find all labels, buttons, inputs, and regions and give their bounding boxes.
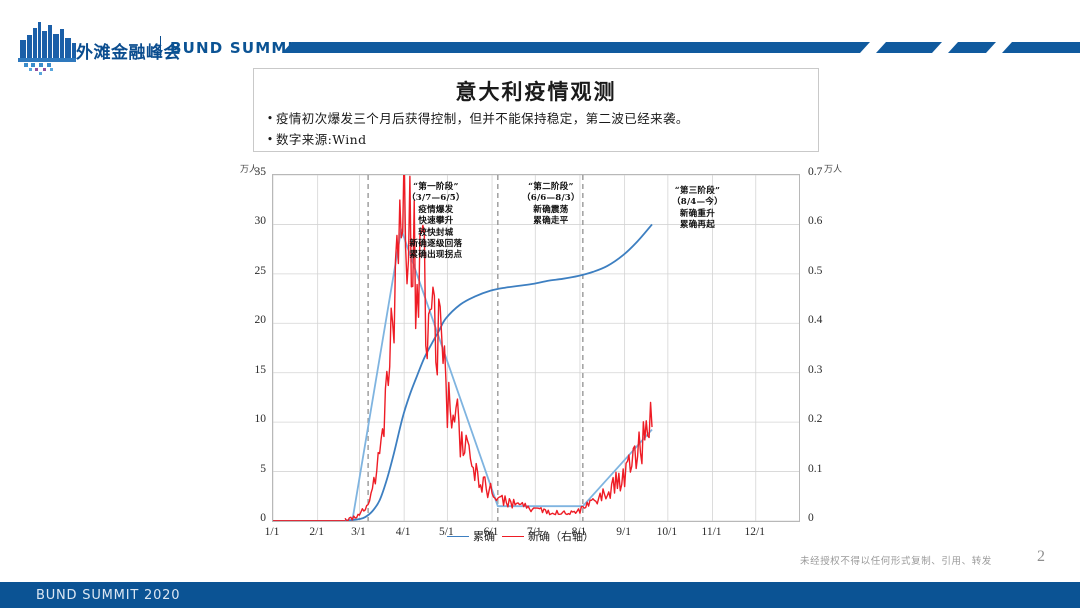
y-axis-tick-label: 20 bbox=[232, 314, 266, 326]
legend-item-daily: 新确（右轴） bbox=[502, 528, 594, 544]
y2-axis-tick-label: 0.6 bbox=[808, 215, 848, 227]
annotation-line: “第二阶段” bbox=[522, 182, 580, 193]
annotation-line: 快速攀升 bbox=[407, 216, 465, 227]
bullet-marker-icon: • bbox=[264, 132, 276, 148]
x-axis-tick-label: 10/1 bbox=[647, 526, 687, 538]
y2-axis-tick-label: 0.4 bbox=[808, 314, 848, 326]
bullet-text: 疫情初次爆发三个月后获得控制，但并不能保持稳定，第二波已经来袭。 bbox=[276, 111, 689, 127]
y-axis-tick-label: 15 bbox=[232, 364, 266, 376]
x-axis-tick-label: 3/1 bbox=[338, 526, 378, 538]
legend-label: 新确（右轴） bbox=[528, 528, 594, 544]
y2-axis-tick-label: 0.7 bbox=[808, 166, 848, 178]
y2-axis-tick-label: 0.3 bbox=[808, 364, 848, 376]
x-axis-tick-label: 9/1 bbox=[604, 526, 644, 538]
title-and-bullets-box: 意大利疫情观测 • 疫情初次爆发三个月后获得控制，但并不能保持稳定，第二波已经来… bbox=[253, 68, 819, 152]
y-axis-tick-label: 30 bbox=[232, 215, 266, 227]
header-accent-chevron-3 bbox=[1002, 42, 1080, 53]
y-axis-tick-label: 10 bbox=[232, 413, 266, 425]
x-axis-tick-label: 1/1 bbox=[252, 526, 292, 538]
annotation-line: （6/6—8/3） bbox=[522, 193, 580, 204]
bund-summit-logo-icon bbox=[12, 18, 84, 76]
legend-label: 累确 bbox=[473, 528, 495, 544]
y-axis-tick-label: 5 bbox=[232, 463, 266, 475]
bullet-marker-icon: • bbox=[264, 111, 276, 127]
logo-chinese-name: 外滩金融峰会 bbox=[76, 38, 181, 63]
annotation-line: 新确震荡 bbox=[522, 205, 580, 216]
header-accent-chevron-1 bbox=[876, 42, 942, 53]
annotation-line: 疫情爆发 bbox=[407, 205, 465, 216]
annotation-line: 较快封城 bbox=[407, 228, 465, 239]
annotation-phase-2: “第二阶段”（6/6—8/3）新确震荡累确走平 bbox=[522, 182, 580, 228]
y-axis-tick-label: 25 bbox=[232, 265, 266, 277]
annotation-line: “第三阶段” bbox=[672, 186, 723, 197]
y-axis-tick-label: 0 bbox=[232, 512, 266, 524]
y-axis-tick-label: 35 bbox=[232, 166, 266, 178]
legend-item-cumulative: 累确 bbox=[447, 528, 495, 544]
y2-axis-tick-label: 0.1 bbox=[808, 463, 848, 475]
footer-brand-text: BUND SUMMIT 2020 bbox=[36, 588, 180, 603]
x-axis-tick-label: 12/1 bbox=[735, 526, 775, 538]
slide-header: 外滩金融峰会 BUND SUMMIT bbox=[0, 0, 1080, 78]
annotation-phase-1: “第一阶段”（3/7—6/5）疫情爆发快速攀升较快封城新确逐级回落累确出现拐点 bbox=[407, 182, 465, 262]
annotation-line: 新确逐级回落 bbox=[407, 239, 465, 250]
page-title: 意大利疫情观测 bbox=[254, 76, 818, 106]
list-item: • 数字来源:Wind bbox=[264, 132, 818, 148]
copyright-notice: 未经授权不得以任何形式复制、引用、转发 bbox=[800, 553, 992, 567]
logo-divider bbox=[160, 36, 161, 58]
annotation-line: “第一阶段” bbox=[407, 182, 465, 193]
y2-axis-tick-label: 0.2 bbox=[808, 413, 848, 425]
bullet-text: 数字来源:Wind bbox=[276, 132, 367, 148]
epidemic-chart: 万人 万人 35302520151050 0.70.60.50.40.30.20… bbox=[232, 158, 862, 538]
logo-english-name: BUND SUMMIT bbox=[170, 39, 306, 57]
annotation-line: （8/4—今） bbox=[672, 197, 723, 208]
page-number: 2 bbox=[1037, 548, 1045, 566]
y2-axis-tick-label: 0 bbox=[808, 512, 848, 524]
annotation-line: 累确走平 bbox=[522, 216, 580, 227]
chart-legend: 累确 新确（右轴） bbox=[447, 528, 594, 544]
legend-swatch-cumulative bbox=[447, 536, 469, 537]
legend-swatch-daily bbox=[502, 536, 524, 537]
annotation-line: 累确出现拐点 bbox=[407, 250, 465, 261]
list-item: • 疫情初次爆发三个月后获得控制，但并不能保持稳定，第二波已经来袭。 bbox=[264, 111, 818, 127]
annotation-line: 新确重升 bbox=[672, 209, 723, 220]
annotation-line: （3/7—6/5） bbox=[407, 193, 465, 204]
x-axis-tick-label: 11/1 bbox=[692, 526, 732, 538]
x-axis-tick-label: 4/1 bbox=[383, 526, 423, 538]
x-axis-tick-label: 2/1 bbox=[297, 526, 337, 538]
annotation-line: 累确再起 bbox=[672, 220, 723, 231]
y2-axis-tick-label: 0.5 bbox=[808, 265, 848, 277]
header-accent-bar bbox=[282, 42, 870, 53]
header-accent-chevron-2 bbox=[948, 42, 996, 53]
annotation-phase-3: “第三阶段”（8/4—今）新确重升累确再起 bbox=[672, 186, 723, 232]
